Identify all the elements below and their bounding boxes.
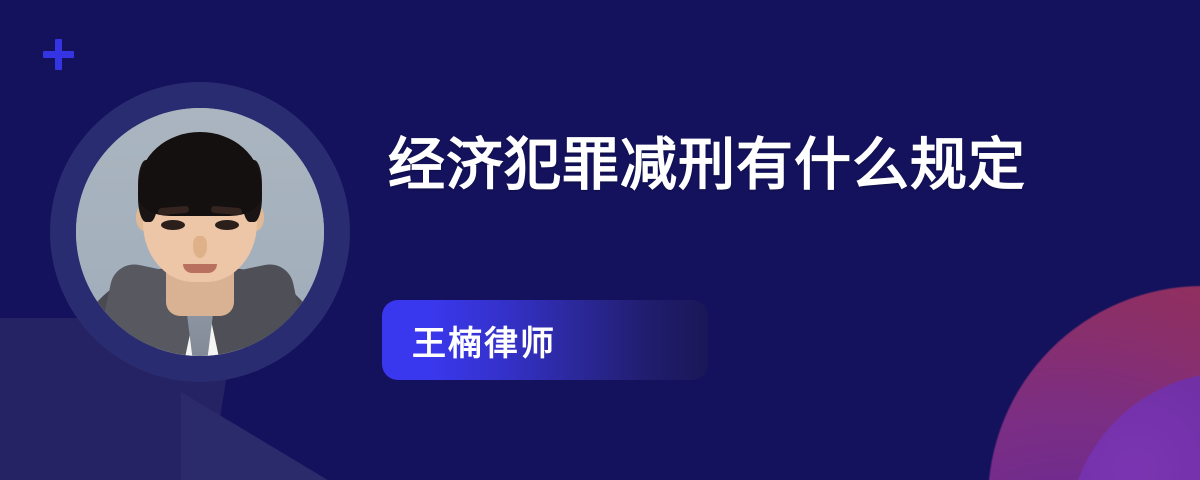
portrait-eye-right [215,220,239,230]
avatar [50,82,350,382]
portrait-nose [193,236,207,258]
portrait-eye-left [161,220,185,230]
plus-icon [42,38,74,70]
lawyer-name-button[interactable]: 王楠律师 [382,300,708,380]
page-title: 经济犯罪减刑有什么规定 [388,133,1026,199]
portrait-mouth [183,264,217,273]
promo-card: 经济犯罪减刑有什么规定 王楠律师 [0,0,1200,480]
avatar-photo [76,108,324,356]
lawyer-name-label: 王楠律师 [382,316,556,365]
